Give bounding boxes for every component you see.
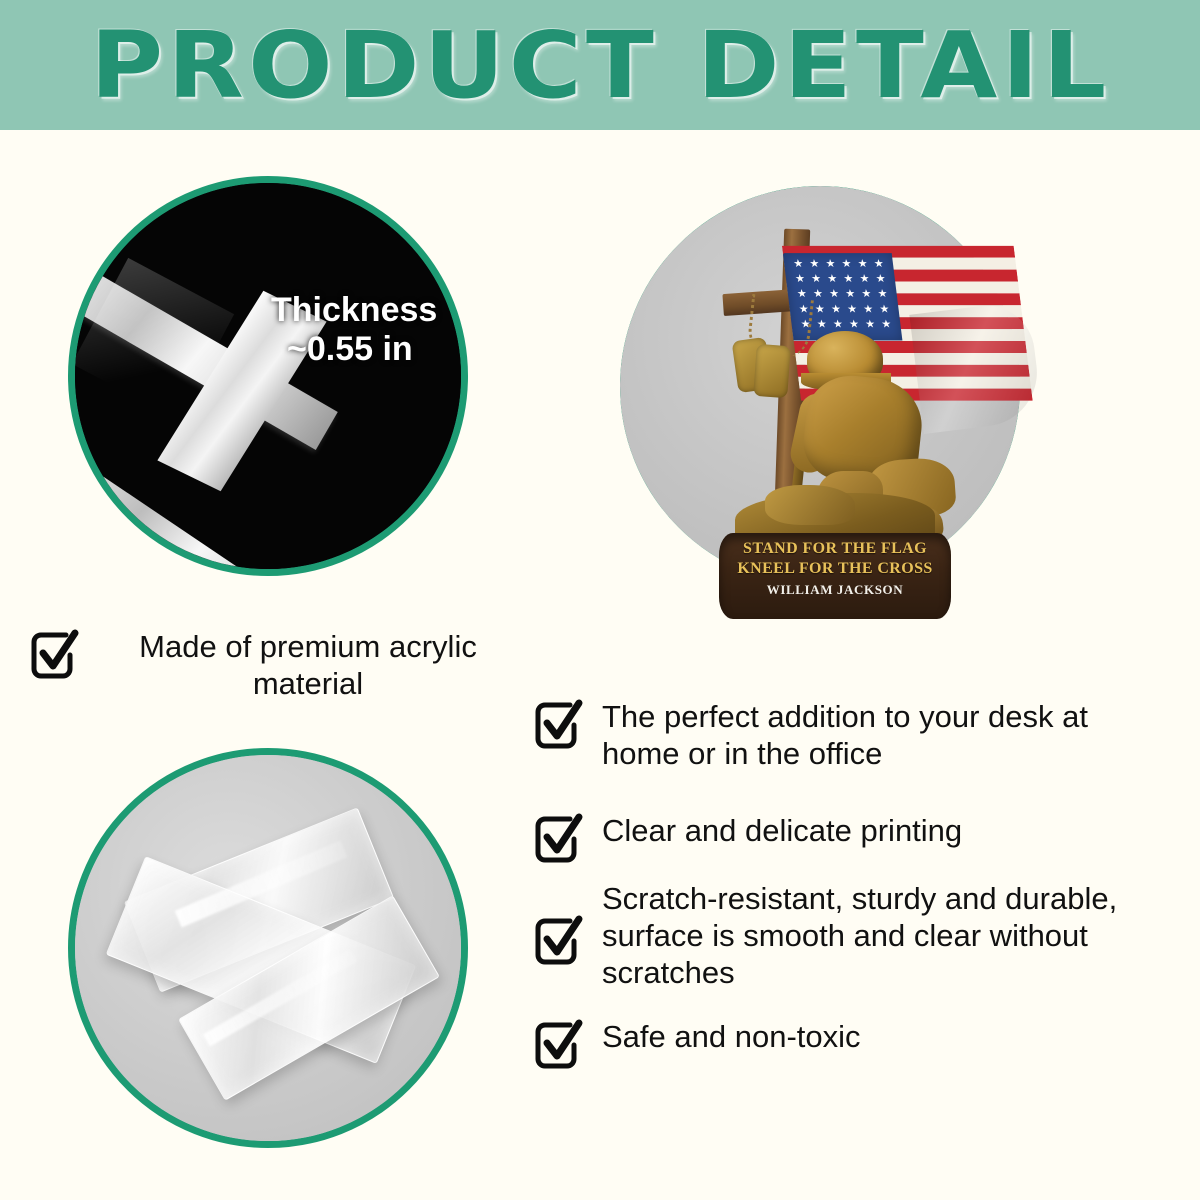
acrylic-blocks-photo-circle bbox=[68, 748, 468, 1148]
thickness-label-line2: ~0.55 in bbox=[287, 330, 468, 369]
feature-label-acrylic: Made of premium acrylic material bbox=[98, 628, 518, 702]
feature-item-scratch: Scratch-resistant, sturdy and durable, s… bbox=[532, 880, 1192, 992]
statue-base-line-1: STAND FOR THE FLAG bbox=[719, 539, 951, 559]
statue-base-name: WILLIAM JACKSON bbox=[719, 582, 951, 598]
thickness-label-line1: Thickness bbox=[271, 291, 437, 329]
feature-item-acrylic: Made of premium acrylic material bbox=[28, 628, 538, 702]
thickness-photo-circle: Thickness ~0.55 in bbox=[68, 176, 468, 576]
feature-item-desk: The perfect addition to your desk at hom… bbox=[532, 698, 1172, 772]
feature-item-safe: Safe and non-toxic bbox=[532, 1018, 1172, 1074]
page-title: PRODUCT DETAIL bbox=[90, 20, 1110, 112]
feature-label-printing: Clear and delicate printing bbox=[602, 812, 962, 849]
checkbox-checked-icon bbox=[28, 628, 84, 684]
thickness-photo-background bbox=[75, 183, 461, 569]
statue-photo-circle: ★★★★★★ ★★★★★★ ★★★★★★ ★★★★★★ ★★★★★★ bbox=[620, 186, 1020, 586]
statue-base-line-2: KNEEL FOR THE CROSS bbox=[719, 559, 951, 579]
header-band: PRODUCT DETAIL bbox=[0, 0, 1200, 130]
checkbox-checked-icon bbox=[532, 698, 588, 754]
statue-base: STAND FOR THE FLAG KNEEL FOR THE CROSS W… bbox=[719, 533, 951, 619]
feature-label-scratch: Scratch-resistant, sturdy and durable, s… bbox=[602, 880, 1192, 992]
thickness-label: Thickness ~0.55 in bbox=[271, 291, 468, 370]
checkbox-checked-icon bbox=[532, 812, 588, 868]
feature-label-desk: The perfect addition to your desk at hom… bbox=[602, 698, 1172, 772]
checkbox-checked-icon bbox=[532, 914, 588, 970]
soldier-statue-graphic: ★★★★★★ ★★★★★★ ★★★★★★ ★★★★★★ ★★★★★★ bbox=[627, 193, 1027, 593]
product-detail-page: PRODUCT DETAIL Thickness ~0.55 in bbox=[0, 0, 1200, 1200]
checkbox-checked-icon bbox=[532, 1018, 588, 1074]
feature-item-printing: Clear and delicate printing bbox=[532, 812, 1172, 868]
statue-ground-rubble-secondary bbox=[765, 485, 855, 525]
feature-label-safe: Safe and non-toxic bbox=[602, 1018, 861, 1055]
